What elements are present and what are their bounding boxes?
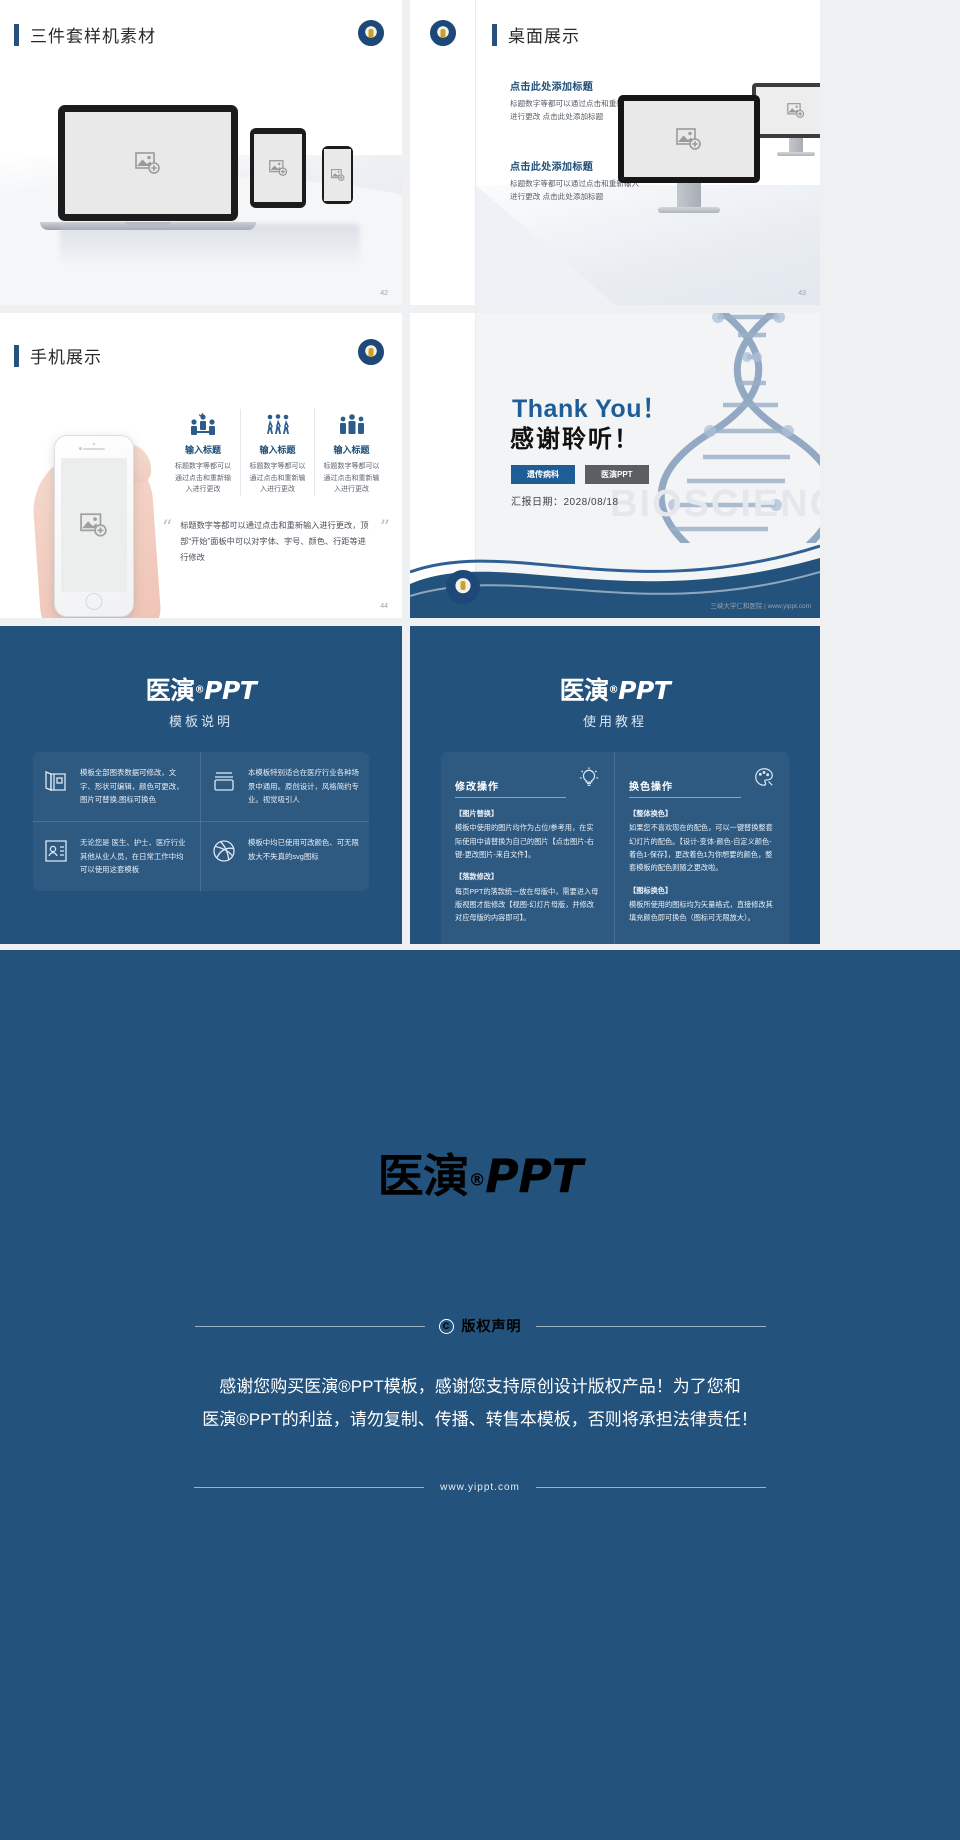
university-crest (358, 339, 384, 365)
tutorial-section-text: 模板中使用的图片均作为占位/参考用，在实际使用中请替换为自己的图片【点击图片-右… (455, 823, 594, 859)
brand-en: PPT (618, 676, 670, 705)
quote-block: “ 标题数字等都可以通过点击和重新输入进行更改，顶部“开始”面板中可以对字体、字… (162, 518, 390, 566)
people-meeting-icon (172, 409, 234, 437)
website-url[interactable]: www.yippt.com (440, 1482, 520, 1493)
description-cell[interactable]: 无论您是 医生、护士、医疗行业其他从业人员，在日常工作中均可以使用这套模板 (33, 822, 201, 891)
university-crest (430, 20, 456, 46)
brand-logo-large: 医演®PPT (0, 1140, 960, 1206)
device-reflection (60, 224, 360, 266)
slide-usage-tutorial[interactable]: 医演®PPT 使用教程 修改操作 【图片替换】 模板中使用的图片均作 (410, 626, 820, 944)
box-open-icon (211, 766, 239, 799)
image-add-icon (135, 152, 161, 174)
feature-column[interactable]: 输入标题 标题数字等都可以通过点击和重新输入进行更改 (240, 409, 314, 496)
brand-cn: 医演 (560, 676, 609, 705)
copyright-line-2: 医演®PPT的利益，请勿复制、传播、转售本模板，否则将承担法律责任！ (155, 1403, 805, 1436)
quote-open-icon: “ (162, 518, 172, 566)
description-cell[interactable]: 模板全部图表数据可修改，文字、形状可编辑，颜色可更改，图片可替换,图标可换色 (33, 752, 201, 822)
description-text: 模板中均已使用可改颜色、可无限放大不失真的svg图标 (248, 836, 359, 863)
lightbulb-icon (578, 766, 600, 793)
divider-left (194, 1487, 424, 1488)
description-cell[interactable]: 本模板特别适合在医疗行业各种场景中通用。原创设计，风格简约专业。视觉吸引人 (201, 752, 369, 822)
slide1-title: 三件套样机素材 (30, 22, 156, 47)
tablet-mockup (250, 128, 306, 208)
slide2-page-number: 43 (798, 290, 806, 297)
brand-en: PPT (204, 676, 256, 705)
image-add-icon (787, 103, 805, 118)
slide3-title: 手机展示 (30, 343, 102, 368)
tag-row: 遗传病科 医演PPT (511, 465, 649, 484)
team-group-icon (321, 409, 382, 437)
description-text: 无论您是 医生、护士、医疗行业其他从业人员，在日常工作中均可以使用这套模板 (80, 836, 190, 877)
slide5-subtitle: 模板说明 (0, 711, 402, 730)
university-crest (358, 20, 384, 46)
tutorial-section-label: 【图片替换】 (455, 807, 600, 820)
tutorial-panel-title: 修改操作 (455, 778, 499, 793)
image-add-icon (331, 169, 345, 181)
website-row: www.yippt.com (0, 1482, 960, 1493)
book-pages-icon (43, 766, 71, 799)
feature-heading: 输入标题 (247, 443, 308, 456)
feature-heading: 输入标题 (172, 443, 234, 456)
brand-registered-icon: ® (609, 685, 619, 696)
tutorial-grid: 修改操作 【图片替换】 模板中使用的图片均作为占位/参考用，在实际使用中请替换为… (441, 752, 789, 944)
slide1-page-number: 42 (380, 290, 388, 297)
laptop-mockup (58, 105, 238, 230)
copyright-heading-row: C 版权声明 (0, 1316, 960, 1336)
title-accent-bar (492, 24, 497, 46)
bioscience-watermark: BIOSCIENCE (610, 483, 820, 526)
slide2-title-row: 桌面展示 (492, 22, 580, 47)
tutorial-section-label: 【整体换色】 (629, 807, 775, 820)
group-walking-icon (247, 409, 308, 437)
tutorial-section-text: 每页PPT的落款统一放在母版中，需要进入母版视图才能修改【视图-幻灯片母版，并修… (455, 887, 598, 923)
slide-thank-you[interactable]: BIOSCIENCE Thank You！ 感谢聆听！ 遗传病科 医演PPT 汇… (410, 313, 820, 618)
dribbble-ball-icon (211, 836, 239, 869)
tutorial-divider (455, 797, 566, 798)
thank-you-chinese: 感谢聆听！ (510, 419, 640, 454)
tutorial-panel-title: 换色操作 (629, 778, 673, 793)
report-date: 汇报日期：2028/08/18 (511, 493, 619, 508)
image-add-icon (269, 160, 288, 176)
university-crest (446, 570, 480, 604)
description-grid: 模板全部图表数据可修改，文字、形状可编辑，颜色可更改，图片可替换,图标可换色 本… (33, 752, 369, 891)
title-accent-bar (14, 24, 19, 46)
feature-body: 标题数字等都可以通过点击和重新输入进行更改 (247, 461, 308, 496)
brand-en: PPT (485, 1149, 582, 1203)
divider-left (195, 1326, 425, 1327)
divider-right (536, 1326, 766, 1327)
secondary-monitor-mockup (752, 83, 820, 156)
tutorial-section: 【图片替换】 模板中使用的图片均作为占位/参考用，在实际使用中请替换为自己的图片… (455, 807, 600, 861)
brand-registered-icon: ® (469, 1171, 486, 1191)
description-cell[interactable]: 模板中均已使用可改颜色、可无限放大不失真的svg图标 (201, 822, 369, 891)
feature-body: 标题数字等都可以通过点击和重新输入进行更改 (321, 461, 382, 496)
slide4-footer: 三峡大学仁和医院 | www.yippt.com (710, 600, 811, 610)
brand-cn: 医演 (146, 676, 195, 705)
feature-heading: 输入标题 (321, 443, 382, 456)
tutorial-section-label: 【落款修改】 (455, 870, 600, 883)
brand-cn: 医演 (378, 1149, 469, 1203)
slide-three-device-mockup[interactable]: 三件套样机素材 (0, 0, 402, 305)
divider-right (536, 1487, 766, 1488)
description-text: 模板全部图表数据可修改，文字、形状可编辑，颜色可更改，图片可替换,图标可换色 (80, 766, 190, 807)
user-card-icon (43, 836, 71, 869)
tutorial-section-label: 【图标换色】 (629, 884, 775, 897)
description-text: 本模板特别适合在医疗行业各种场景中通用。原创设计，风格简约专业。视觉吸引人 (248, 766, 359, 807)
tutorial-panel-edit[interactable]: 修改操作 【图片替换】 模板中使用的图片均作为占位/参考用，在实际使用中请替换为… (441, 752, 615, 944)
slide1-title-row: 三件套样机素材 (14, 22, 156, 47)
tag-brand[interactable]: 医演PPT (585, 465, 649, 484)
tutorial-divider (629, 797, 741, 798)
phone-mockup (54, 435, 134, 617)
brand-logo: 医演®PPT (410, 671, 820, 707)
slide-deck-overview: 三件套样机素材 (0, 0, 960, 1840)
slide2-heading-1: 点击此处添加标题 (510, 78, 642, 93)
feature-body: 标题数字等都可以通过点击和重新输入进行更改 (172, 461, 234, 496)
slide3-page-number: 44 (380, 603, 388, 610)
tutorial-panel-recolor[interactable]: 换色操作 【整体换色】 如果您不喜欢现在的配色，可以一键替换整套幻灯片的配色。【… (615, 752, 789, 944)
slide6-subtitle: 使用教程 (410, 711, 820, 730)
feature-columns: 输入标题 标题数字等都可以通过点击和重新输入进行更改 输入标题 标题数字等都可以… (166, 409, 388, 496)
image-add-icon (80, 513, 108, 537)
slide2-title: 桌面展示 (508, 22, 580, 47)
tutorial-section: 【落款修改】 每页PPT的落款统一放在母版中，需要进入母版视图才能修改【视图-幻… (455, 870, 600, 924)
tutorial-section-text: 模板所使用的图标均为矢量格式，直接修改其填充颜色即可换色（图标可无限放大）。 (629, 900, 773, 922)
copyright-line-1: 感谢您购买医演®PPT模板，感谢您支持原创设计版权产品！为了您和 (155, 1370, 805, 1403)
quote-close-icon: ” (380, 518, 390, 536)
hand-holding-phone (18, 373, 158, 618)
primary-monitor-mockup (618, 95, 760, 213)
slide-desktop-display[interactable]: 桌面展示 点击此处添加标题 标题数字等都可以通过点击和重新输入进行更改 点击此处… (410, 0, 820, 305)
feature-column[interactable]: 输入标题 标题数字等都可以通过点击和重新输入进行更改 (166, 409, 240, 496)
slide-copyright-statement[interactable]: 医演®PPT C 版权声明 感谢您购买医演®PPT模板，感谢您支持原创设计版权产… (0, 950, 960, 1840)
tutorial-section: 【整体换色】 如果您不喜欢现在的配色，可以一键替换整套幻灯片的配色。【设计-变体… (629, 807, 775, 875)
slide-template-description[interactable]: 医演®PPT 模板说明 模板全部图表数据可修改，文字、形状可编辑，颜色可更改，图… (0, 626, 402, 944)
brand-registered-icon: ® (195, 685, 205, 696)
slide-phone-display[interactable]: 手机展示 (0, 313, 402, 618)
tag-department[interactable]: 遗传病科 (511, 465, 575, 484)
image-add-icon (676, 128, 702, 150)
feature-column[interactable]: 输入标题 标题数字等都可以通过点击和重新输入进行更改 (314, 409, 388, 496)
copyright-icon: C (439, 1319, 454, 1334)
palette-icon (753, 766, 775, 793)
copyright-title: 版权声明 (462, 1316, 522, 1336)
quote-text: 标题数字等都可以通过点击和重新输入进行更改，顶部“开始”面板中可以对字体、字号、… (180, 518, 372, 566)
phone-mockup (322, 146, 353, 204)
brand-logo: 医演®PPT (0, 671, 402, 707)
tutorial-section: 【图标换色】 模板所使用的图标均为矢量格式，直接修改其填充颜色即可换色（图标可无… (629, 884, 775, 925)
copyright-body: 感谢您购买医演®PPT模板，感谢您支持原创设计版权产品！为了您和 医演®PPT的… (155, 1370, 805, 1436)
title-accent-bar (14, 345, 19, 367)
tutorial-section-text: 如果您不喜欢现在的配色，可以一键替换整套幻灯片的配色。【设计-变体-颜色-自定义… (629, 823, 773, 872)
slide3-title-row: 手机展示 (14, 343, 102, 368)
